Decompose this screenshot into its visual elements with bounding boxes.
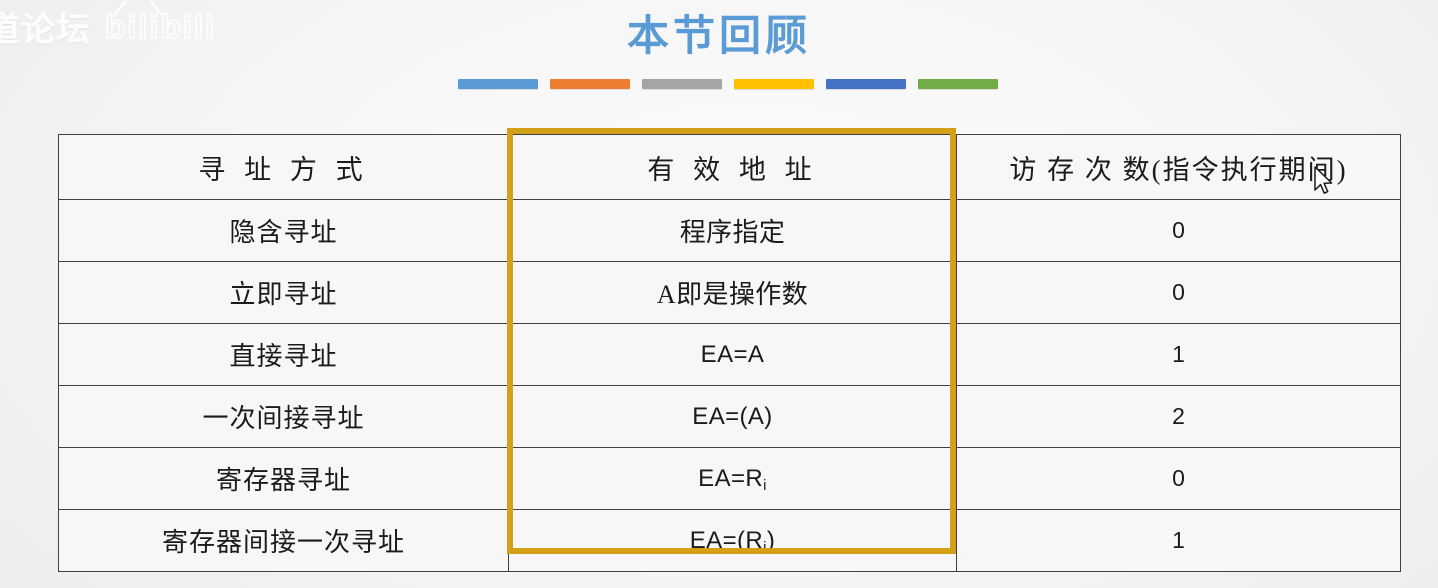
ea-subscript: i [763, 478, 767, 494]
ea-text: EA=(R [690, 527, 763, 554]
cell-effective-address: EA=(A) [509, 386, 957, 448]
cell-addressing-mode: 一次间接寻址 [59, 386, 509, 448]
page-title: 本节回顾 [0, 2, 1438, 63]
table-row: 一次间接寻址 EA=(A) 2 [59, 386, 1401, 448]
accent-bar-yellow [734, 79, 814, 89]
addressing-modes-table: 寻 址 方 式 有 效 地 址 访 存 次 数(指令执行期间) 隐含寻址 程序指… [58, 134, 1400, 553]
table-row: 直接寻址 EA=A 1 [59, 324, 1401, 386]
accent-bar-blue [826, 79, 906, 89]
table-row: 寄存器寻址 EA=Ri 0 [59, 448, 1401, 510]
cell-effective-address: 程序指定 [509, 200, 957, 262]
table-row: 立即寻址 A即是操作数 0 [59, 262, 1401, 324]
accent-bar-orange [550, 79, 630, 89]
ea-text: EA=A [701, 341, 765, 368]
cell-access-count: 1 [957, 510, 1401, 572]
cell-access-count: 1 [957, 324, 1401, 386]
cell-access-count: 0 [957, 448, 1401, 510]
cell-effective-address: EA=(Ri) [509, 510, 957, 572]
cell-effective-address: EA=Ri [509, 448, 957, 510]
cell-addressing-mode: 隐含寻址 [59, 200, 509, 262]
cell-addressing-mode: 直接寻址 [59, 324, 509, 386]
column-header-effective-address: 有 效 地 址 [509, 135, 957, 200]
ea-text: A即是操作数 [657, 280, 808, 309]
accent-bar-gray [642, 79, 722, 89]
table-row: 隐含寻址 程序指定 0 [59, 200, 1401, 262]
cell-access-count: 0 [957, 262, 1401, 324]
cell-access-count: 0 [957, 200, 1401, 262]
cell-effective-address: EA=A [509, 324, 957, 386]
ea-subscript: i [763, 540, 767, 556]
column-header-memory-access-count: 访 存 次 数(指令执行期间) [957, 135, 1401, 200]
ea-text: EA=(A) [692, 403, 772, 430]
cell-effective-address: A即是操作数 [509, 262, 957, 324]
cell-addressing-mode: 立即寻址 [59, 262, 509, 324]
accent-bar-group [458, 79, 998, 89]
ea-text: 程序指定 [680, 218, 786, 247]
slide-canvas: 道论坛 bilibili 本节回顾 寻 址 方 式 有 效 地 址 访 存 次 … [0, 0, 1438, 588]
cell-addressing-mode: 寄存器寻址 [59, 448, 509, 510]
ea-tail: ) [767, 527, 775, 554]
cell-addressing-mode: 寄存器间接一次寻址 [59, 510, 509, 572]
table-header-row: 寻 址 方 式 有 效 地 址 访 存 次 数(指令执行期间) [59, 135, 1401, 200]
table: 寻 址 方 式 有 效 地 址 访 存 次 数(指令执行期间) 隐含寻址 程序指… [58, 134, 1401, 572]
accent-bar-green [918, 79, 998, 89]
cell-access-count: 2 [957, 386, 1401, 448]
column-header-addressing-mode: 寻 址 方 式 [59, 135, 509, 200]
table-row: 寄存器间接一次寻址 EA=(Ri) 1 [59, 510, 1401, 572]
accent-bar-light-blue [458, 79, 538, 89]
ea-text: EA=R [698, 465, 763, 492]
